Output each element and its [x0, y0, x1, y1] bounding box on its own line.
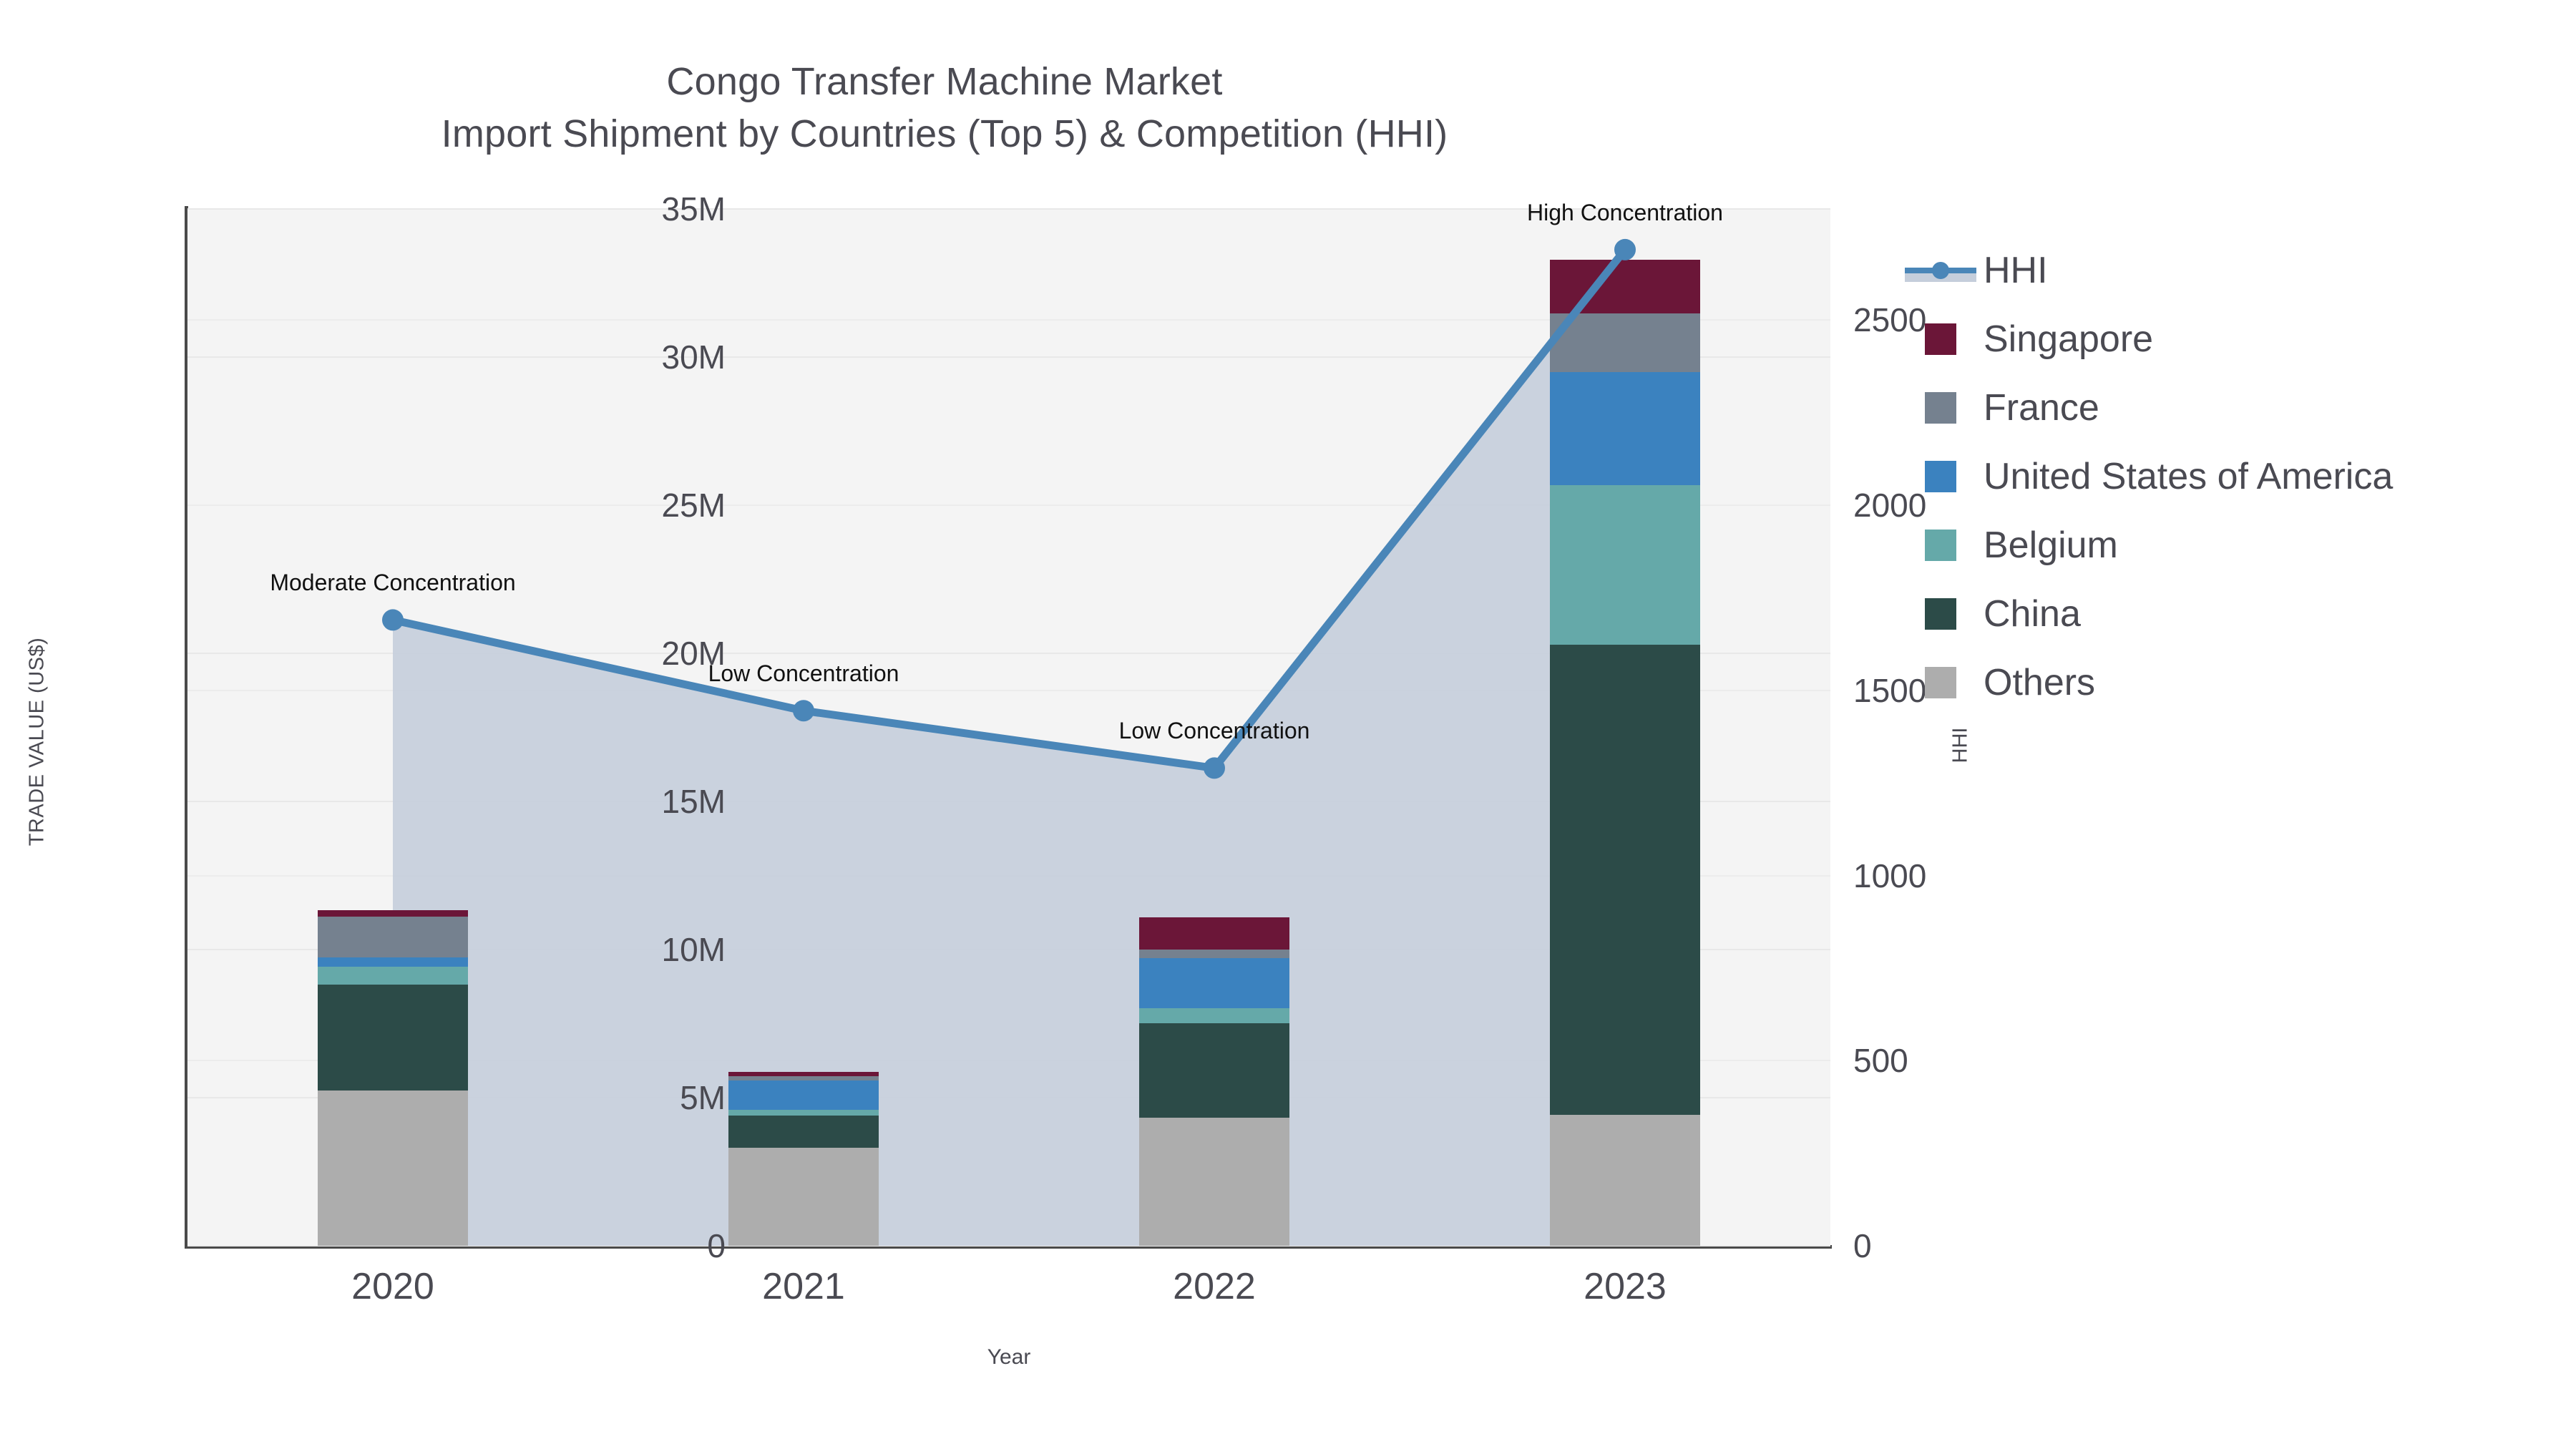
legend-item-singapore[interactable]: Singapore — [1925, 305, 2569, 374]
x-tick-label: 2020 — [351, 1265, 434, 1308]
y-tick-left-label: 10M — [540, 930, 726, 969]
color-swatch-icon — [1925, 461, 1956, 492]
hhi-annotation: Moderate Concentration — [270, 570, 515, 596]
plot-area: Moderate ConcentrationLow ConcentrationL… — [187, 209, 1830, 1246]
title-line-1: Congo Transfer Machine Market — [0, 56, 1889, 108]
hhi-data-point[interactable] — [1614, 239, 1636, 260]
y-axis-left-label: TRADE VALUE (US$) — [26, 577, 49, 907]
y-tick-left-label: 0 — [540, 1226, 726, 1265]
legend-item-label: United States of America — [1984, 455, 2393, 498]
legend-item-label: China — [1984, 592, 2081, 635]
color-swatch-icon — [1925, 598, 1956, 630]
hhi-annotation: Low Concentration — [1119, 718, 1310, 744]
y-tick-right-label: 500 — [1853, 1041, 2025, 1080]
y-tick-left-label: 30M — [540, 338, 726, 376]
x-axis-label: Year — [187, 1345, 1830, 1370]
x-tick-label: 2023 — [1584, 1265, 1667, 1308]
legend-item-hhi[interactable]: HHI — [1925, 236, 2569, 305]
hhi-annotation: Low Concentration — [708, 660, 899, 687]
legend-item-label: HHI — [1984, 249, 2048, 292]
chart-title: Congo Transfer Machine Market Import Shi… — [0, 56, 1889, 160]
legend-item-others[interactable]: Others — [1925, 648, 2569, 717]
chart-legend: HHISingaporeFranceUnited States of Ameri… — [1925, 236, 2569, 717]
legend-item-label: Singapore — [1984, 318, 2153, 361]
y-tick-left-label: 35M — [540, 190, 726, 228]
y-tick-left-label: 15M — [540, 782, 726, 821]
legend-item-label: Belgium — [1984, 524, 2118, 567]
legend-item-label: Others — [1984, 661, 2095, 704]
color-swatch-icon — [1925, 530, 1956, 561]
title-line-2: Import Shipment by Countries (Top 5) & C… — [0, 108, 1889, 160]
legend-item-united-states-of-america[interactable]: United States of America — [1925, 442, 2569, 511]
hhi-line-series — [187, 209, 1830, 1246]
x-tick-label: 2022 — [1173, 1265, 1256, 1308]
color-swatch-icon — [1925, 392, 1956, 424]
y-tick-right-label: 1000 — [1853, 857, 2025, 895]
color-swatch-icon — [1925, 667, 1956, 698]
x-tick-label: 2021 — [762, 1265, 845, 1308]
legend-item-france[interactable]: France — [1925, 374, 2569, 442]
hhi-data-point[interactable] — [382, 609, 404, 630]
line-marker-icon — [1925, 255, 1956, 286]
y-tick-right-label: 0 — [1853, 1226, 2025, 1265]
hhi-data-point[interactable] — [793, 700, 814, 721]
y-tick-left-label: 25M — [540, 486, 726, 525]
y-tick-left-label: 20M — [540, 634, 726, 673]
legend-item-label: France — [1984, 386, 2099, 429]
hhi-annotation: High Concentration — [1527, 200, 1723, 226]
hhi-data-point[interactable] — [1204, 757, 1225, 779]
legend-item-china[interactable]: China — [1925, 580, 2569, 648]
legend-item-belgium[interactable]: Belgium — [1925, 511, 2569, 580]
color-swatch-icon — [1925, 323, 1956, 355]
y-tick-left-label: 5M — [540, 1078, 726, 1117]
